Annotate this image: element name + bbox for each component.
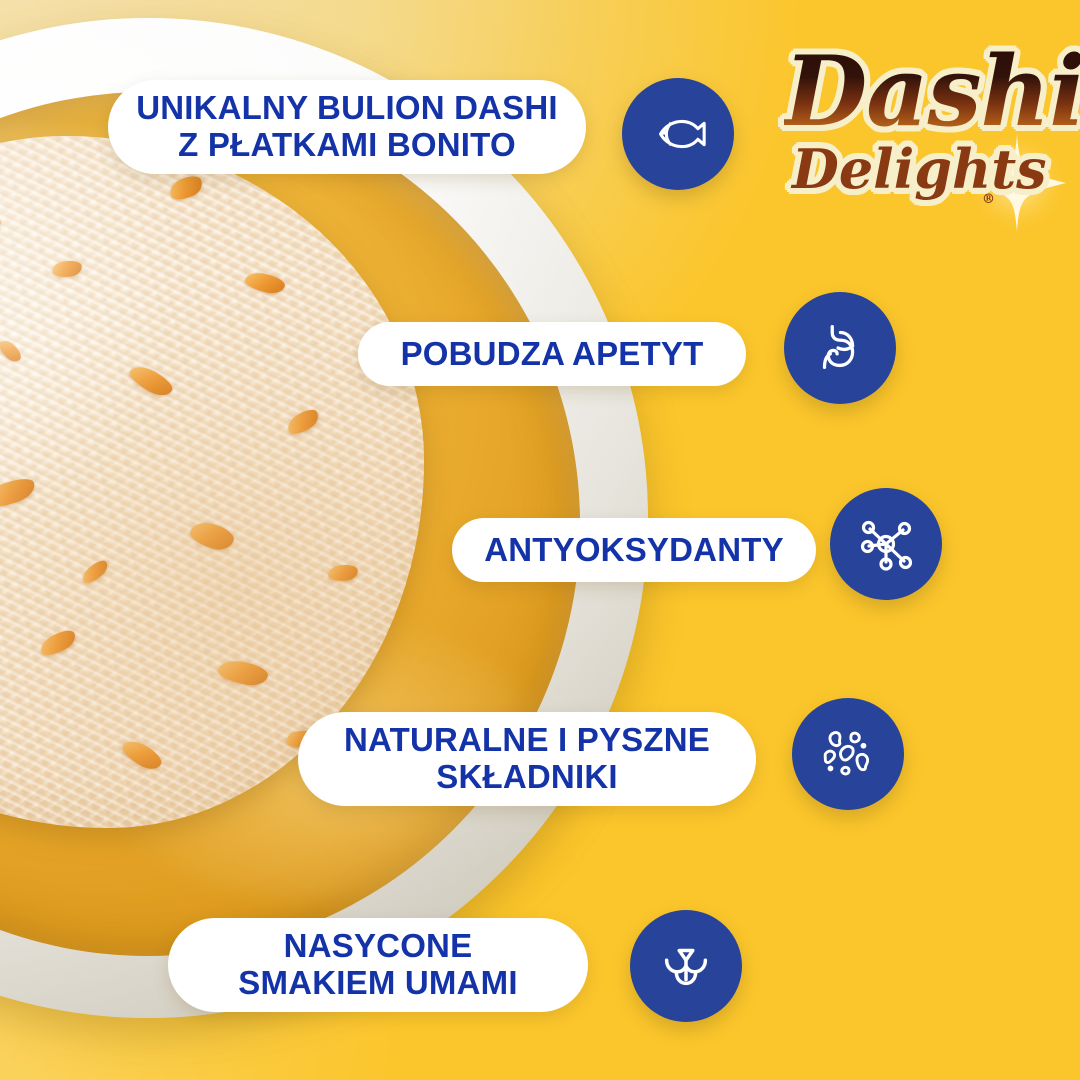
bonito-flake — [119, 736, 165, 774]
feature-label-line: SKŁADNIKI — [436, 758, 617, 795]
feature-label-line: Z PŁATKAMI BONITO — [178, 126, 516, 163]
stomach-icon — [809, 317, 871, 379]
bonito-flake — [126, 362, 176, 401]
bonito-flake — [327, 564, 359, 583]
bonito-flake — [0, 337, 25, 365]
logo-wordmark-primary: Dashi — [784, 44, 1080, 140]
fish-icon — [647, 103, 709, 165]
feature-pill-bulion-dashi[interactable]: UNIKALNY BULION DASHI Z PŁATKAMI BONITO — [108, 80, 586, 174]
bonito-flake — [216, 658, 269, 688]
molecule-icon — [854, 512, 918, 576]
bonito-flake — [0, 474, 38, 512]
feature-label-line: POBUDZA APETYT — [401, 336, 704, 373]
promo-banner: UNIKALNY BULION DASHI Z PŁATKAMI BONITO … — [0, 0, 1080, 1080]
bonito-flake — [37, 626, 79, 660]
bonito-flake — [167, 171, 206, 203]
bonito-flake — [52, 259, 84, 279]
brand-logo: Dashi Delights ® — [776, 44, 1076, 212]
feature-label-line: NASYCONE — [284, 927, 473, 964]
feature-pill-naturalne-skladniki[interactable]: NATURALNE I PYSZNE SKŁADNIKI — [298, 712, 756, 806]
logo-wordmark-secondary: Delights — [792, 142, 1047, 196]
feature-label-line: ANTYOKSYDANTY — [484, 532, 784, 569]
feature-label-line: SMAKIEM UMAMI — [238, 964, 517, 1001]
taste-tongue-icon — [655, 935, 717, 997]
feature-pill-umami[interactable]: NASYCONE SMAKIEM UMAMI — [168, 918, 588, 1012]
feature-icon-badge-antyoksydanty[interactable] — [830, 488, 942, 600]
feature-icon-badge-pobudza-apetyt[interactable] — [784, 292, 896, 404]
bonito-flake — [244, 270, 287, 296]
bonito-flake — [188, 518, 237, 553]
feature-pill-pobudza-apetyt[interactable]: POBUDZA APETYT — [358, 322, 746, 386]
feature-icon-badge-bulion-dashi[interactable] — [622, 78, 734, 190]
bonito-flake — [79, 557, 111, 587]
feature-label-line: NATURALNE I PYSZNE — [344, 721, 710, 758]
ingredient-flakes-icon — [815, 721, 881, 787]
feature-pill-antyoksydanty[interactable]: ANTYOKSYDANTY — [452, 518, 816, 582]
bonito-flake — [284, 405, 322, 438]
feature-icon-badge-umami[interactable] — [630, 910, 742, 1022]
registered-trademark-mark: ® — [982, 192, 995, 207]
bonito-flake — [0, 198, 4, 239]
feature-label-line: UNIKALNY BULION DASHI — [136, 89, 558, 126]
feature-icon-badge-naturalne-skladniki[interactable] — [792, 698, 904, 810]
